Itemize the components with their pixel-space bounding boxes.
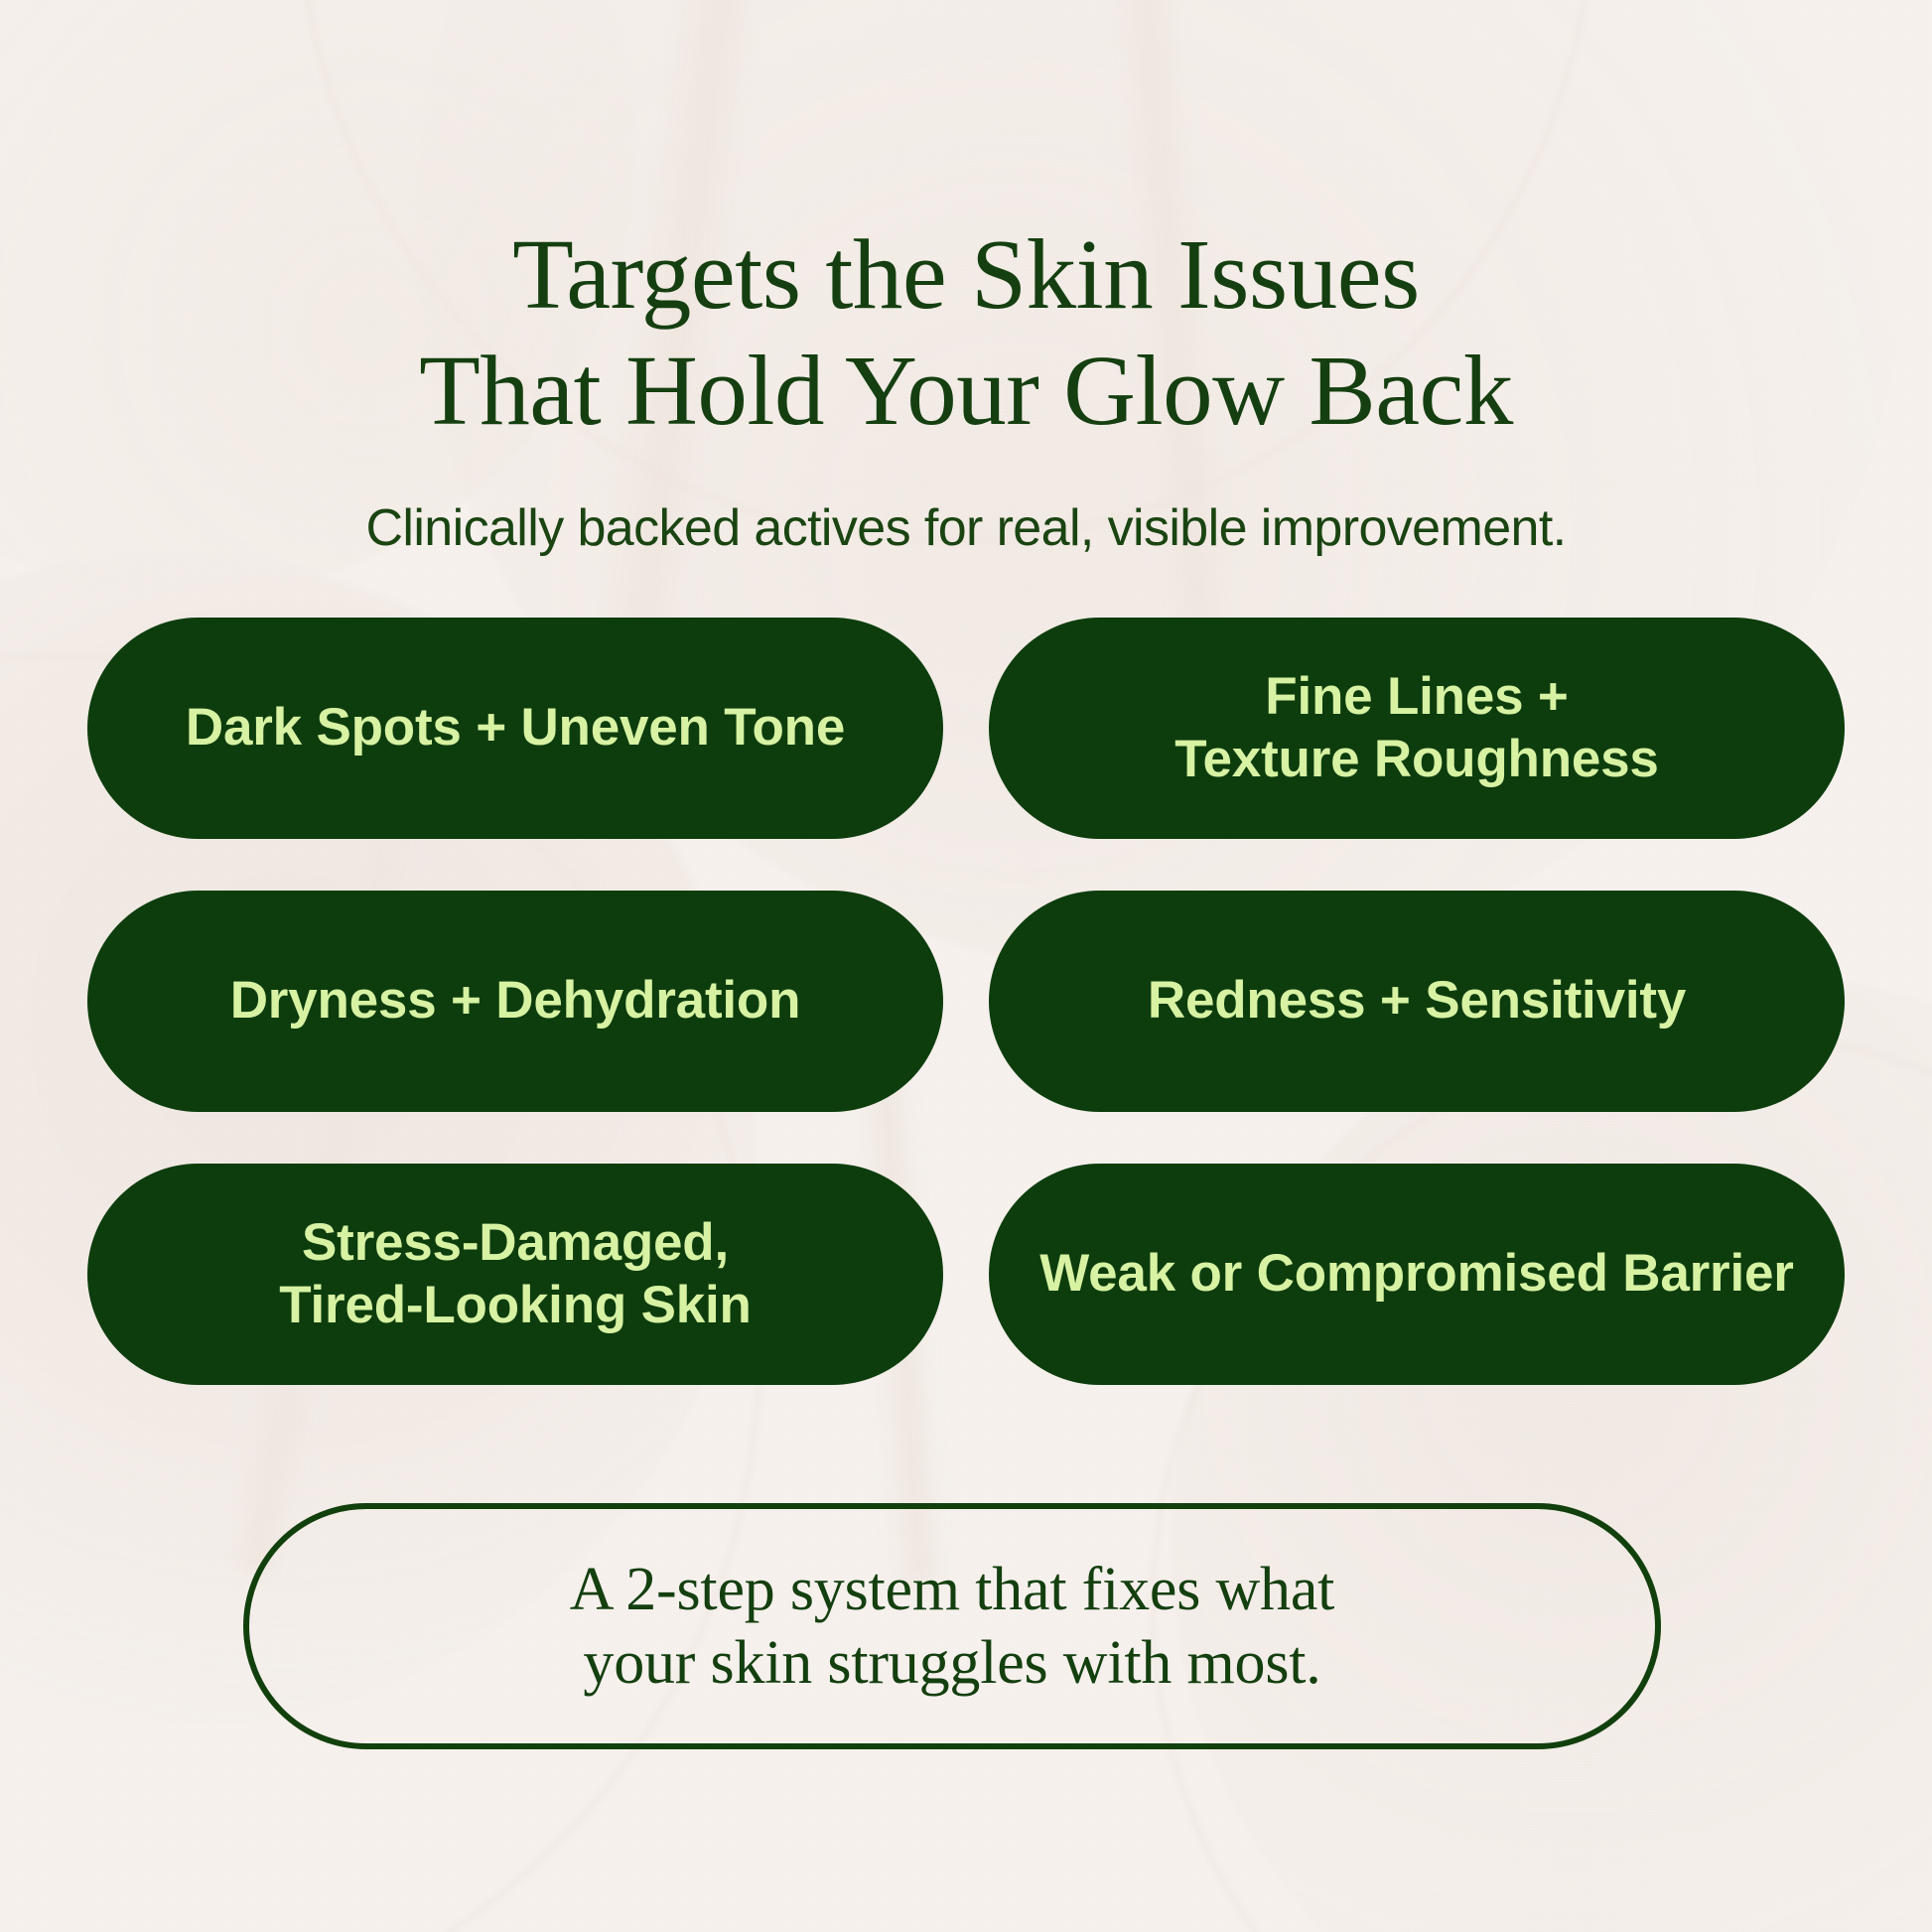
skin-concern-grid: Dark Spots + Uneven Tone Fine Lines + Te… — [87, 618, 1845, 1385]
footer-callout-text: A 2-step system that fixes what your ski… — [570, 1553, 1334, 1701]
concern-pill-label: Stress-Damaged, Tired-Looking Skin — [279, 1212, 751, 1336]
footer-callout-pill[interactable]: A 2-step system that fixes what your ski… — [243, 1503, 1661, 1749]
page-title-line-1: Targets the Skin Issues — [0, 216, 1932, 333]
concern-pill-label: Fine Lines + Texture Roughness — [1174, 666, 1658, 790]
poster-canvas: Targets the Skin Issues That Hold Your G… — [0, 0, 1932, 1932]
concern-pill-dark-spots[interactable]: Dark Spots + Uneven Tone — [87, 618, 943, 839]
concern-pill-dryness[interactable]: Dryness + Dehydration — [87, 891, 943, 1112]
concern-pill-redness[interactable]: Redness + Sensitivity — [989, 891, 1845, 1112]
page-title: Targets the Skin Issues That Hold Your G… — [0, 216, 1932, 449]
concern-pill-label: Redness + Sensitivity — [1148, 970, 1686, 1033]
concern-pill-fine-lines[interactable]: Fine Lines + Texture Roughness — [989, 618, 1845, 839]
concern-pill-weak-barrier[interactable]: Weak or Compromised Barrier — [989, 1164, 1845, 1385]
page-subtitle: Clinically backed actives for real, visi… — [0, 500, 1932, 557]
concern-pill-label: Dark Spots + Uneven Tone — [186, 697, 845, 759]
concern-pill-label: Weak or Compromised Barrier — [1039, 1243, 1793, 1306]
page-title-line-2: That Hold Your Glow Back — [0, 333, 1932, 449]
concern-pill-label: Dryness + Dehydration — [230, 970, 801, 1033]
concern-pill-stress-damaged[interactable]: Stress-Damaged, Tired-Looking Skin — [87, 1164, 943, 1385]
